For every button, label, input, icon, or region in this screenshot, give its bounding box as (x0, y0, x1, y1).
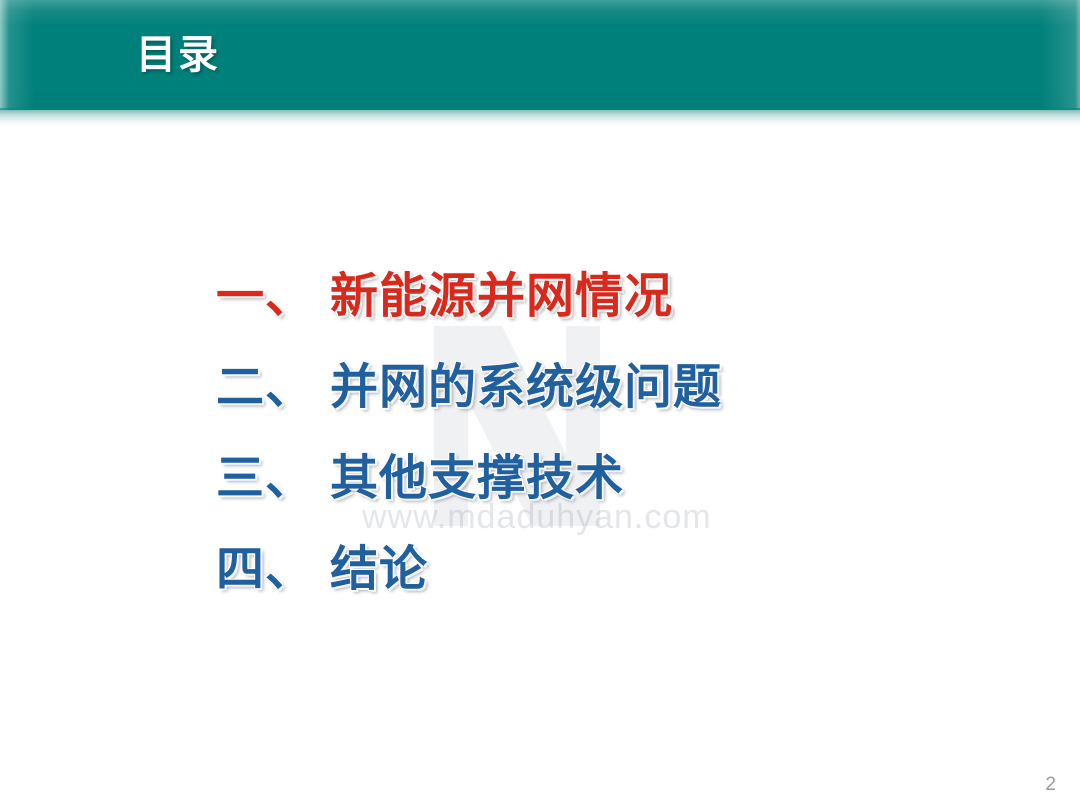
list-item-number: 三、 (216, 444, 314, 512)
slide-canvas: 目录 www.mdaduhyan.com 一、新能源并网情况 二、并网的系统级问… (0, 0, 1080, 810)
list-item-2: 二、并网的系统级问题 (216, 353, 722, 421)
list-item[interactable]: 三、其他支撑技术 (0, 444, 1080, 535)
list-item[interactable]: 四、结论 (0, 535, 1080, 626)
list-item-label: 并网的系统级问题 (330, 359, 722, 415)
list-item-label: 新能源并网情况 (330, 268, 673, 324)
list-item-4: 四、结论 (216, 535, 428, 603)
list-item-number: 一、 (216, 262, 314, 330)
list-item-label: 其他支撑技术 (330, 450, 624, 506)
list-item-label: 结论 (330, 541, 428, 597)
list-item[interactable]: 一、新能源并网情况 (0, 262, 1080, 353)
list-item-3: 三、其他支撑技术 (216, 444, 624, 512)
contents-list: 一、新能源并网情况 二、并网的系统级问题 三、其他支撑技术 四、结论 (0, 262, 1080, 626)
header-bottom-fade (0, 108, 1080, 128)
list-item-1: 一、新能源并网情况 (216, 262, 673, 330)
list-item[interactable]: 二、并网的系统级问题 (0, 353, 1080, 444)
list-item-number: 二、 (216, 353, 314, 421)
page-number: 2 (1045, 774, 1056, 796)
page-title: 目录 (136, 31, 220, 79)
list-item-number: 四、 (216, 535, 314, 603)
